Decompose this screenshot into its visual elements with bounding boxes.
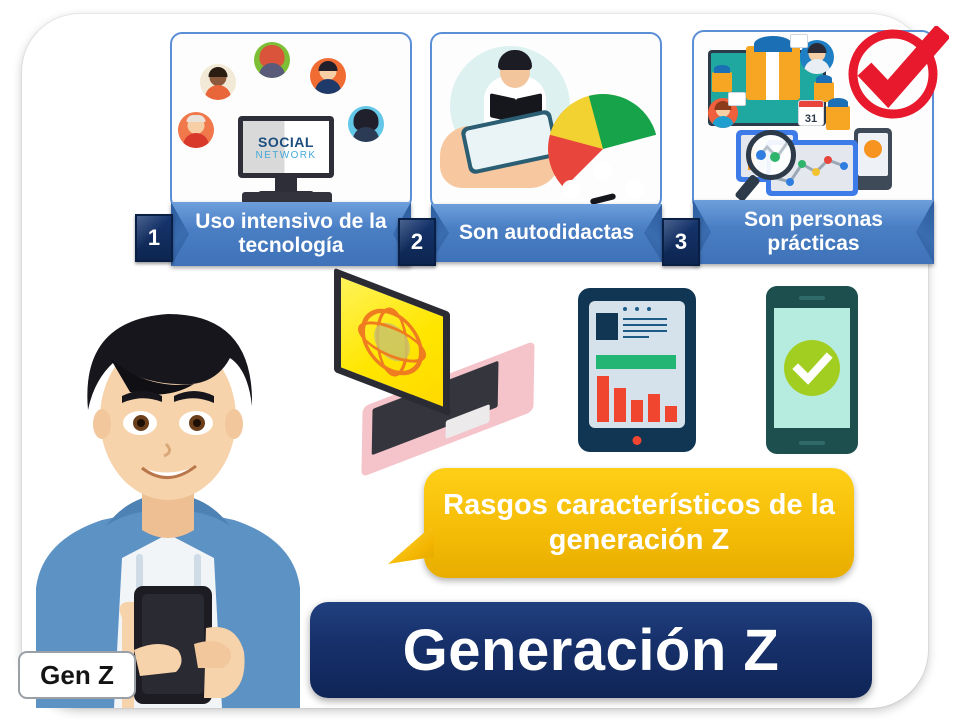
trait-1-label-text: Uso intensivo de la tecnología bbox=[179, 210, 403, 257]
red-checkmark-icon bbox=[845, 26, 949, 122]
tablet-bar-3 bbox=[631, 400, 643, 422]
avatar-woman-blue bbox=[348, 106, 384, 142]
gen-z-young-man-illustration bbox=[18, 258, 348, 708]
chat-bubble-icon-left bbox=[728, 92, 746, 106]
gift-bow-small-mid bbox=[816, 75, 832, 83]
trait-3-label[interactable]: Son personas prácticas bbox=[693, 200, 934, 264]
tablet-green-bar bbox=[596, 355, 676, 369]
trait-2-illustration-card bbox=[430, 32, 662, 210]
tablet-report-icon bbox=[578, 288, 696, 452]
calendar-day: 31 bbox=[805, 113, 817, 125]
avatar-man-glasses bbox=[178, 112, 214, 148]
calendar-icon: 31 bbox=[798, 100, 824, 126]
monitor-icon: SOCIAL NETWORK bbox=[238, 116, 334, 178]
check-circle-icon bbox=[784, 340, 840, 396]
happy-face-icon bbox=[626, 180, 644, 198]
gift-ribbon-vertical bbox=[766, 46, 779, 100]
monitor-screen-line-2: NETWORK bbox=[256, 150, 317, 161]
ear-left bbox=[93, 409, 111, 439]
subtitle-text: Rasgos característicos de la generación … bbox=[424, 488, 854, 559]
gift-bow-large bbox=[754, 36, 792, 52]
avatar-woman-red bbox=[254, 42, 290, 78]
magnifying-glass-icon bbox=[746, 130, 796, 180]
trait-1-illustration-card: SOCIAL NETWORK bbox=[170, 32, 412, 210]
trait-3-number-badge: 3 bbox=[662, 218, 700, 266]
phone-body bbox=[766, 286, 858, 454]
trait-2-label[interactable]: Son autodidactas bbox=[431, 204, 662, 262]
sad-face-icon bbox=[562, 180, 580, 198]
globe-icon bbox=[361, 299, 423, 385]
trait-1-number-badge: 1 bbox=[135, 214, 173, 262]
trait-2-label-text: Son autodidactas bbox=[459, 221, 634, 245]
phone-home-button bbox=[799, 441, 825, 445]
tablet-thumbnail bbox=[596, 313, 618, 340]
tablet-body bbox=[578, 288, 696, 452]
tablet-bar-4 bbox=[648, 394, 660, 422]
smartphone-chart-icon bbox=[854, 128, 892, 190]
monitor-screen-line-1: SOCIAL bbox=[258, 134, 314, 150]
phone-screen bbox=[774, 308, 850, 428]
smartphone-check-icon bbox=[766, 286, 858, 454]
tablet-bar-5 bbox=[665, 406, 677, 422]
trait-1-number: 1 bbox=[148, 225, 160, 251]
phone-speaker bbox=[799, 296, 825, 300]
gen-z-badge-text: Gen Z bbox=[40, 660, 114, 691]
chat-bubble-icon-top bbox=[790, 34, 808, 48]
trait-1-label[interactable]: Uso intensivo de la tecnología bbox=[171, 202, 411, 266]
infographic-canvas: SOCIAL NETWORK bbox=[0, 0, 960, 720]
trait-2-number-badge: 2 bbox=[398, 218, 436, 266]
trait-3-number: 3 bbox=[675, 229, 687, 255]
main-title-banner: Generación Z bbox=[310, 602, 872, 698]
satisfaction-gauge bbox=[548, 148, 658, 204]
tablet-bar-1 bbox=[597, 376, 609, 422]
gen-z-corner-badge: Gen Z bbox=[18, 651, 136, 699]
subtitle-callout: Rasgos característicos de la generación … bbox=[424, 468, 854, 578]
ear-right bbox=[225, 409, 243, 439]
gift-bow-small-left bbox=[714, 65, 730, 73]
gift-box-small-left bbox=[712, 72, 732, 92]
laptop-globe-icon bbox=[332, 286, 536, 454]
fingers-left bbox=[134, 644, 182, 676]
avatar-man-dark bbox=[200, 64, 236, 100]
trait-2-number: 2 bbox=[411, 229, 423, 255]
laptop-screen bbox=[334, 268, 450, 417]
avatar-man-suit bbox=[310, 58, 346, 94]
page-title: Generación Z bbox=[403, 617, 780, 684]
tablet-screen bbox=[589, 301, 685, 428]
tablet-home-button bbox=[633, 436, 642, 445]
trait-3-label-text: Son personas prácticas bbox=[701, 208, 926, 255]
pie-chart-icon bbox=[864, 140, 882, 158]
monitor-stand bbox=[275, 178, 297, 192]
tablet-bar-2 bbox=[614, 388, 626, 422]
neutral-face-icon bbox=[594, 162, 612, 180]
